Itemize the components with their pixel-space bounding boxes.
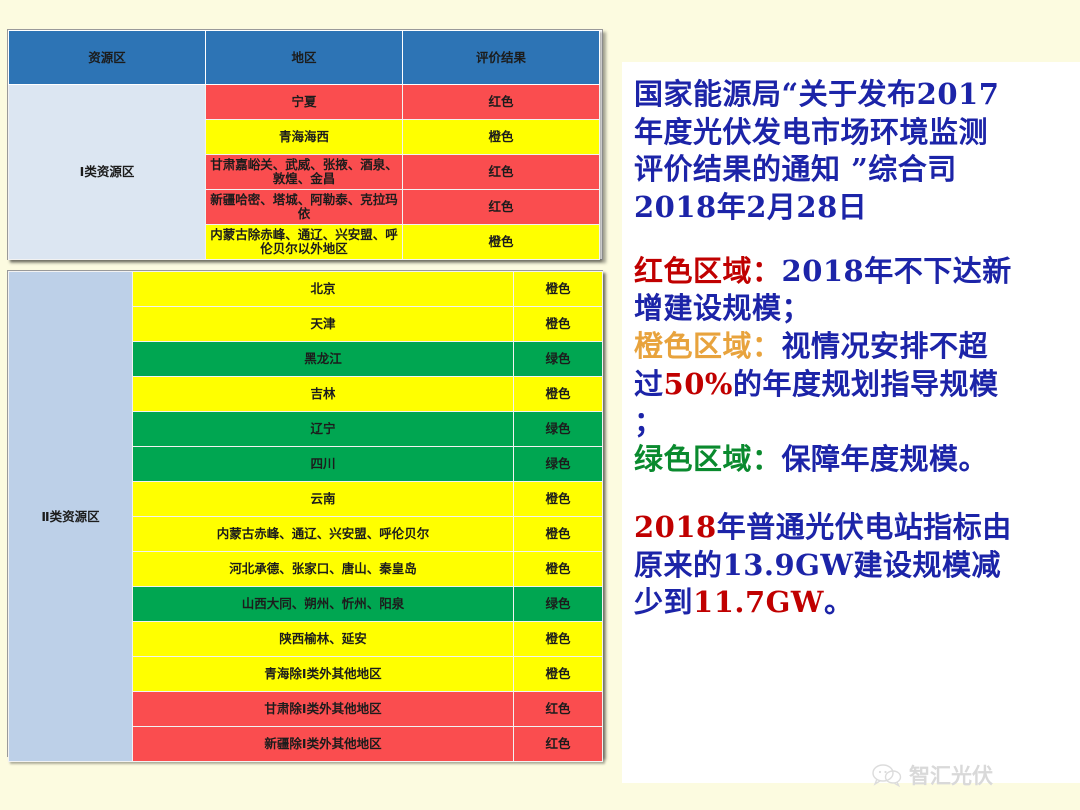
result-cell: 绿色 bbox=[514, 412, 603, 447]
table-row: Ⅱ类资源区北京橙色 bbox=[9, 272, 603, 307]
zone-cell: Ⅱ类资源区 bbox=[9, 272, 133, 762]
legend-orange-label: 橙色区域： bbox=[634, 329, 782, 363]
result-cell: 橙色 bbox=[514, 657, 603, 692]
region-cell: 四川 bbox=[133, 447, 514, 482]
note-final: 2018年普通光伏电站指标由 原来的13.9GW建设规模减 少到11.7GW。 bbox=[634, 509, 1070, 622]
result-cell: 红色 bbox=[403, 85, 600, 120]
result-cell: 橙色 bbox=[514, 517, 603, 552]
note-panel: 国家能源局“关于发布2017 年度光伏发电市场环境监测 评价结果的通知 ”综合司… bbox=[622, 62, 1080, 783]
result-cell: 橙色 bbox=[514, 272, 603, 307]
result-cell: 红色 bbox=[514, 727, 603, 762]
region-cell: 陕西榆林、延安 bbox=[133, 622, 514, 657]
resource-zone-table-class-2: Ⅱ类资源区北京橙色天津橙色黑龙江绿色吉林橙色辽宁绿色四川绿色云南橙色内蒙古赤峰、… bbox=[8, 271, 603, 762]
final-capacity-new: 11.7GW bbox=[693, 585, 824, 619]
result-cell: 橙色 bbox=[514, 377, 603, 412]
result-cell: 绿色 bbox=[514, 342, 603, 377]
table-body-class-1: Ⅰ类资源区宁夏红色青海海西橙色甘肃嘉峪关、武威、张掖、酒泉、敦煌、金昌红色新疆哈… bbox=[9, 85, 600, 260]
legend-orange: 橙色区域：视情况安排不超 bbox=[634, 328, 1070, 366]
region-cell: 青海海西 bbox=[206, 120, 403, 155]
legend-red-text-cont: 增建设规模； bbox=[634, 290, 1070, 328]
note-legend: 红色区域：2018年不下达新 增建设规模； 橙色区域：视情况安排不超 过50%的… bbox=[634, 253, 1070, 479]
region-cell: 内蒙古除赤峰、通辽、兴安盟、呼伦贝尔以外地区 bbox=[206, 225, 403, 260]
note-title-line-2: 年度光伏发电市场环境监测 bbox=[634, 114, 1070, 152]
legend-red: 红色区域：2018年不下达新 bbox=[634, 253, 1070, 291]
wechat-bubble-icon bbox=[872, 763, 902, 787]
result-cell: 橙色 bbox=[514, 622, 603, 657]
note-title-line-1: 国家能源局“关于发布2017 bbox=[634, 76, 1070, 114]
legend-orange-text: 视情况安排不超 bbox=[782, 329, 989, 363]
result-cell: 绿色 bbox=[514, 587, 603, 622]
column-header-region: 地区 bbox=[206, 31, 403, 85]
result-cell: 橙色 bbox=[514, 482, 603, 517]
result-cell: 橙色 bbox=[403, 225, 600, 260]
region-cell: 新疆除Ⅰ类外其他地区 bbox=[133, 727, 514, 762]
region-cell: 山西大同、朔州、忻州、阳泉 bbox=[133, 587, 514, 622]
table-class-1-frame: 资源区 地区 评价结果 Ⅰ类资源区宁夏红色青海海西橙色甘肃嘉峪关、武威、张掖、酒… bbox=[7, 29, 603, 260]
region-cell: 内蒙古赤峰、通辽、兴安盟、呼伦贝尔 bbox=[133, 517, 514, 552]
legend-orange-semicolon: ； bbox=[634, 404, 1070, 442]
region-cell: 云南 bbox=[133, 482, 514, 517]
result-cell: 橙色 bbox=[403, 120, 600, 155]
note-title: 国家能源局“关于发布2017 年度光伏发电市场环境监测 评价结果的通知 ”综合司… bbox=[634, 76, 1070, 227]
final-line-3: 少到11.7GW。 bbox=[634, 584, 1070, 622]
table-class-2-frame: Ⅱ类资源区北京橙色天津橙色黑龙江绿色吉林橙色辽宁绿色四川绿色云南橙色内蒙古赤峰、… bbox=[7, 270, 603, 757]
region-cell: 辽宁 bbox=[133, 412, 514, 447]
table-header-row: 资源区 地区 评价结果 bbox=[9, 31, 600, 85]
legend-green-text: 保障年度规模。 bbox=[782, 442, 989, 476]
resource-zone-table-class-1: 资源区 地区 评价结果 Ⅰ类资源区宁夏红色青海海西橙色甘肃嘉峪关、武威、张掖、酒… bbox=[8, 30, 600, 260]
region-cell: 河北承德、张家口、唐山、秦皇岛 bbox=[133, 552, 514, 587]
region-cell: 宁夏 bbox=[206, 85, 403, 120]
region-cell: 甘肃除Ⅰ类外其他地区 bbox=[133, 692, 514, 727]
legend-green-label: 绿色区域： bbox=[634, 442, 782, 476]
legend-orange-suffix: 的年度规划指导规模 bbox=[733, 367, 999, 401]
final-text-3: 建设规模减 bbox=[853, 548, 1001, 582]
zone-cell: Ⅰ类资源区 bbox=[9, 85, 206, 260]
region-cell: 北京 bbox=[133, 272, 514, 307]
legend-red-text: 年不下达新 bbox=[864, 254, 1012, 288]
note-title-line-4: 2018年2月28日 bbox=[634, 189, 1070, 227]
table-body-class-2: Ⅱ类资源区北京橙色天津橙色黑龙江绿色吉林橙色辽宁绿色四川绿色云南橙色内蒙古赤峰、… bbox=[9, 272, 603, 762]
result-cell: 红色 bbox=[514, 692, 603, 727]
legend-orange-cont: 过50%的年度规划指导规模 bbox=[634, 366, 1070, 404]
final-capacity-old: 13.9GW bbox=[723, 548, 854, 582]
result-cell: 红色 bbox=[403, 155, 600, 190]
watermark-label: 智汇光伏 bbox=[909, 760, 993, 790]
region-cell: 甘肃嘉峪关、武威、张掖、酒泉、敦煌、金昌 bbox=[206, 155, 403, 190]
final-line-1: 2018年普通光伏电站指标由 bbox=[634, 509, 1070, 547]
legend-green: 绿色区域：保障年度规模。 bbox=[634, 441, 1070, 479]
result-cell: 绿色 bbox=[514, 447, 603, 482]
region-cell: 黑龙江 bbox=[133, 342, 514, 377]
legend-orange-prefix: 过 bbox=[634, 367, 664, 401]
legend-orange-percent: 50% bbox=[664, 367, 733, 401]
region-cell: 青海除Ⅰ类外其他地区 bbox=[133, 657, 514, 692]
region-cell: 天津 bbox=[133, 307, 514, 342]
result-cell: 红色 bbox=[403, 190, 600, 225]
final-text-2: 原来的 bbox=[634, 548, 723, 582]
final-text-1: 年普通光伏电站指标由 bbox=[717, 510, 1012, 544]
table-header: 资源区 地区 评价结果 bbox=[9, 31, 600, 85]
result-cell: 橙色 bbox=[514, 552, 603, 587]
final-text-4: 少到 bbox=[634, 585, 693, 619]
region-cell: 吉林 bbox=[133, 377, 514, 412]
final-year: 2018 bbox=[634, 510, 717, 544]
column-header-result: 评价结果 bbox=[403, 31, 600, 85]
table-row: Ⅰ类资源区宁夏红色 bbox=[9, 85, 600, 120]
note-title-line-3: 评价结果的通知 ”综合司 bbox=[634, 151, 1070, 189]
final-line-2: 原来的13.9GW建设规模减 bbox=[634, 547, 1070, 585]
column-header-zone: 资源区 bbox=[9, 31, 206, 85]
result-cell: 橙色 bbox=[514, 307, 603, 342]
region-cell: 新疆哈密、塔城、阿勒泰、克拉玛依 bbox=[206, 190, 403, 225]
watermark: 智汇光伏 bbox=[872, 760, 993, 790]
final-text-5: 。 bbox=[824, 585, 854, 619]
slide-canvas: 资源区 地区 评价结果 Ⅰ类资源区宁夏红色青海海西橙色甘肃嘉峪关、武威、张掖、酒… bbox=[0, 0, 1080, 810]
legend-red-label: 红色区域： bbox=[634, 254, 782, 288]
legend-red-year: 2018 bbox=[782, 254, 865, 288]
